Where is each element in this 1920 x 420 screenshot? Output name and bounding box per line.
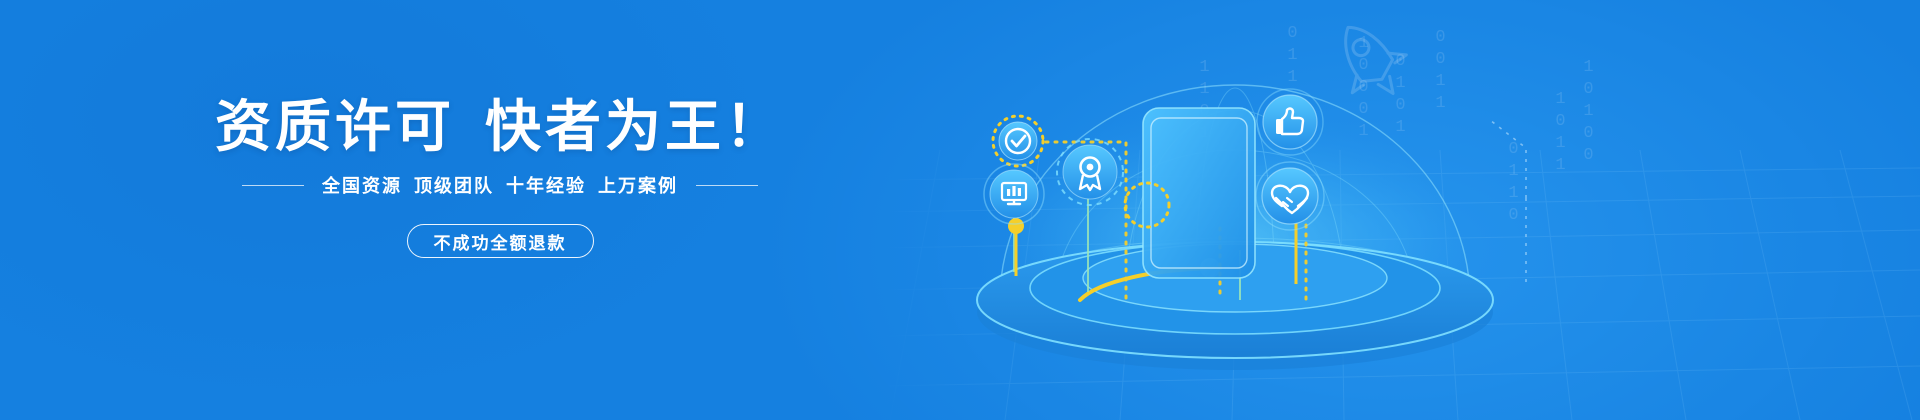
subline-rule-right [696, 185, 758, 186]
promo-banner: 10001 0101 0011 1011 10100 1101 011 0110 [0, 0, 1920, 420]
copy-block: 资质许可快者为王！ 全国资源顶级团队十年经验上万案例 不成功全额退款 [0, 0, 1000, 420]
refund-guarantee-button[interactable]: 不成功全额退款 [407, 224, 594, 258]
check-circle-icon [993, 116, 1043, 166]
thumbs-up-icon [1257, 89, 1323, 155]
handshake-heart-icon [1256, 162, 1324, 230]
subline-item-0: 全国资源 [322, 176, 402, 196]
headline-part2: 快者为王！ [485, 95, 785, 158]
subline-item-1: 顶级团队 [414, 176, 494, 196]
headline: 资质许可快者为王！ [0, 96, 1000, 159]
subline-rule-left [242, 185, 304, 186]
subline: 全国资源顶级团队十年经验上万案例 [0, 172, 1000, 198]
cta-container: 不成功全额退款 [0, 224, 1000, 258]
phone-card [1143, 108, 1255, 278]
subline-item-3: 上万案例 [598, 176, 678, 196]
hero-illustration: 成就里手品牌 强力登陆央视 平台 [930, 0, 1920, 420]
dashed-connectors-light [1490, 120, 1526, 286]
subline-text: 全国资源顶级团队十年经验上万案例 [322, 172, 678, 198]
rocket-icon [1320, 9, 1420, 112]
subline-item-2: 十年经验 [506, 176, 586, 196]
headline-part1: 资质许可 [215, 95, 455, 158]
